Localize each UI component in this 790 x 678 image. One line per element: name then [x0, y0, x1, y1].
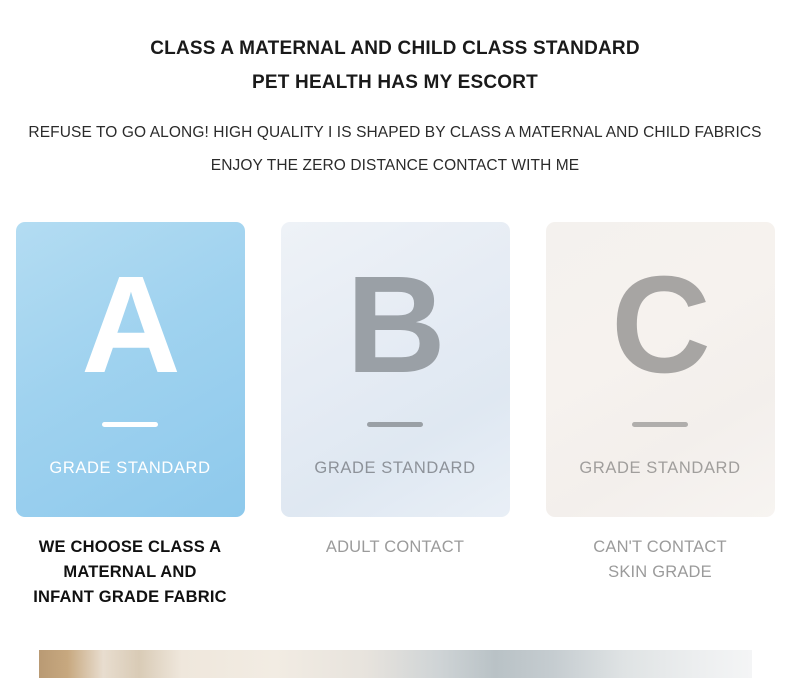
product-photo	[39, 650, 752, 678]
grade-caption-a-line-3: INFANT GRADE FABRIC	[10, 585, 250, 610]
grade-caption-a-line-2: MATERNAL AND	[10, 560, 250, 585]
grade-standard-label-a: GRADE STANDARD	[49, 459, 210, 478]
product-photo-strip	[0, 650, 790, 678]
grade-card-b: B GRADE STANDARD ADULT CONTACT	[281, 222, 510, 610]
page-subtitle-line-1: REFUSE TO GO ALONG! HIGH QUALITY I IS SH…	[0, 116, 790, 149]
grade-standard-label-b: GRADE STANDARD	[314, 459, 475, 478]
grade-letter-a: A	[81, 250, 179, 400]
grade-divider-c	[632, 422, 688, 427]
page-title-block: CLASS A MATERNAL AND CHILD CLASS STANDAR…	[0, 0, 790, 182]
page-title-line-2: PET HEALTH HAS MY ESCORT	[0, 66, 790, 100]
grade-caption-c-line-1: CAN'T CONTACT	[540, 535, 780, 560]
grade-card-a-panel: A GRADE STANDARD	[16, 222, 245, 517]
grade-letter-c: C	[611, 250, 709, 400]
grade-caption-b-line-1: ADULT CONTACT	[275, 535, 515, 560]
grade-card-c: C GRADE STANDARD CAN'T CONTACT SKIN GRAD…	[546, 222, 775, 610]
page-subtitle-block: REFUSE TO GO ALONG! HIGH QUALITY I IS SH…	[0, 116, 790, 182]
grade-caption-c: CAN'T CONTACT SKIN GRADE	[540, 535, 780, 585]
page-subtitle-line-2: ENJOY THE ZERO DISTANCE CONTACT WITH ME	[0, 149, 790, 182]
grade-cards: A GRADE STANDARD WE CHOOSE CLASS A MATER…	[0, 222, 790, 610]
grade-caption-b: ADULT CONTACT	[275, 535, 515, 560]
grade-letter-b: B	[346, 250, 444, 400]
grade-caption-a: WE CHOOSE CLASS A MATERNAL AND INFANT GR…	[10, 535, 250, 610]
grade-caption-c-line-2: SKIN GRADE	[540, 560, 780, 585]
grade-divider-a	[102, 422, 158, 427]
promo-page: CLASS A MATERNAL AND CHILD CLASS STANDAR…	[0, 0, 790, 678]
grade-caption-a-line-1: WE CHOOSE CLASS A	[10, 535, 250, 560]
grade-card-c-panel: C GRADE STANDARD	[546, 222, 775, 517]
page-title-line-1: CLASS A MATERNAL AND CHILD CLASS STANDAR…	[0, 32, 790, 66]
grade-divider-b	[367, 422, 423, 427]
grade-standard-label-c: GRADE STANDARD	[579, 459, 740, 478]
grade-card-a: A GRADE STANDARD WE CHOOSE CLASS A MATER…	[16, 222, 245, 610]
grade-card-b-panel: B GRADE STANDARD	[281, 222, 510, 517]
